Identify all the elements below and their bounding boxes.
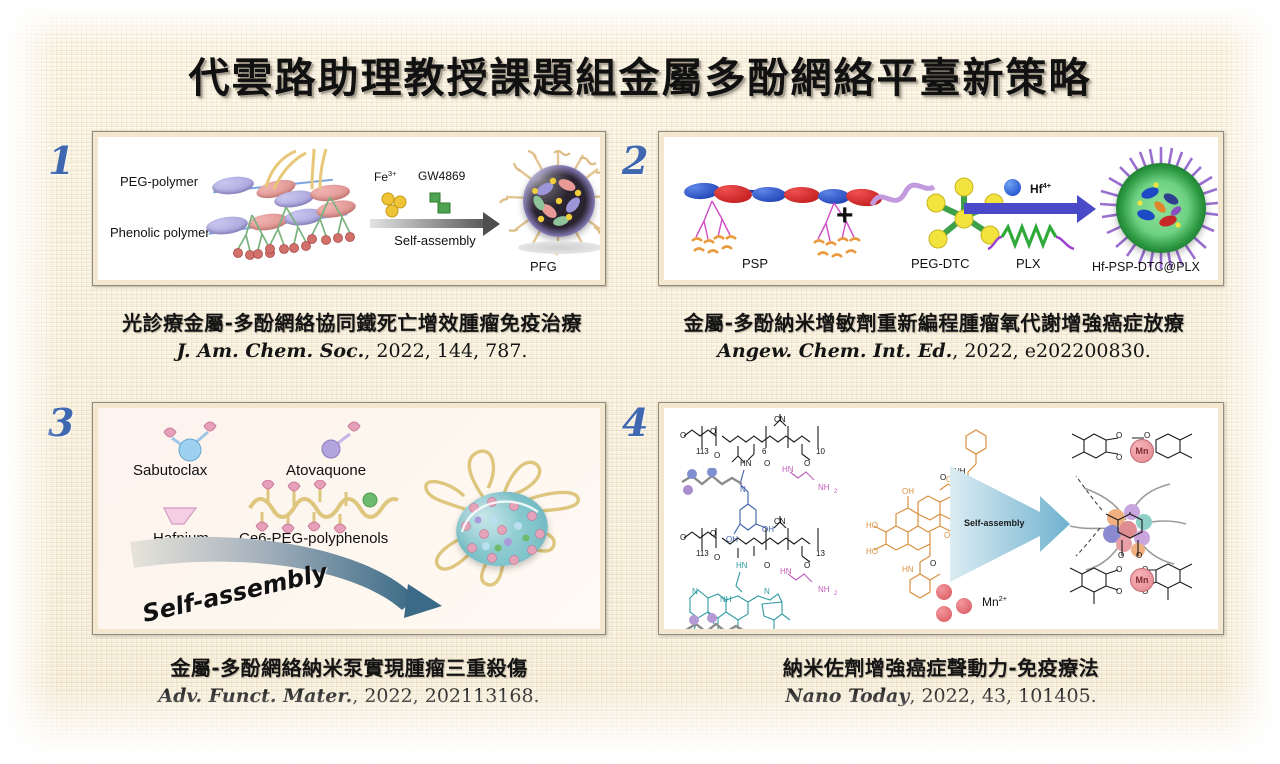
svg-text:CN: CN <box>774 517 786 526</box>
svg-text:O: O <box>804 459 810 468</box>
label-pfg: PFG <box>530 259 557 274</box>
poster-background <box>0 0 1280 764</box>
scheme-panel-4: 113 6 10 CN O O O HN O HN O NH 2 <box>658 402 1224 635</box>
hf-ion-icon <box>1004 179 1021 196</box>
svg-text:O: O <box>764 561 770 570</box>
svg-text:2: 2 <box>834 489 838 495</box>
peg-tail-art <box>256 145 336 195</box>
label-atovaquone: Atovaquone <box>286 462 366 479</box>
nanoparticle-payload-2 <box>1116 163 1206 253</box>
scheme-panel-1: PEG-polymer Phenolic polymer <box>92 131 606 286</box>
caption-title-1: 光診療金屬-多酚網絡協同鐵死亡增效腫瘤免疫治療 <box>72 307 632 336</box>
svg-text:O: O <box>764 459 770 468</box>
label-hf-ion: Hf4+ <box>1030 181 1051 196</box>
svg-text:HN: HN <box>740 459 752 468</box>
scheme-canvas-3: Sabutoclax Atovaquone Hafnium <box>98 408 600 629</box>
svg-text:6: 6 <box>762 447 767 456</box>
svg-text:O: O <box>1136 551 1142 560</box>
mn-ion-dot-3 <box>936 606 952 622</box>
citation-4: , 2022, 43, 101405. <box>909 685 1096 707</box>
nanoparticle-payload-3 <box>448 486 558 578</box>
page-title: 代雲路助理教授課題組金屬多酚網絡平臺新策略 <box>0 44 1280 104</box>
citation-3: , 2022, 202113168. <box>352 685 539 707</box>
caption-reference-3: Adv. Funct. Mater., 2022, 202113168. <box>92 685 606 707</box>
label-peg-polymer: PEG-polymer <box>120 174 198 189</box>
mn-ion-dot-2 <box>956 598 972 614</box>
svg-text:13: 13 <box>816 549 825 558</box>
psp-branch-art <box>682 199 892 279</box>
caption-4: 納米佐劑增強癌症聲動力-免疫療法 Nano Today, 2022, 43, 1… <box>658 652 1224 707</box>
citation-2: , 2022, e202200830. <box>952 340 1151 362</box>
journal-name-2: Angew. Chem. Int. Ed. <box>717 340 952 362</box>
svg-text:O: O <box>1116 431 1122 440</box>
svg-text:O: O <box>1118 551 1124 560</box>
label-psp: PSP <box>742 256 768 271</box>
svg-text:113: 113 <box>696 447 709 456</box>
svg-text:113: 113 <box>696 549 709 558</box>
caption-reference-4: Nano Today, 2022, 43, 101405. <box>658 685 1224 707</box>
svg-text:10: 10 <box>816 447 825 456</box>
caption-2: 金屬-多酚納米增敏劑重新編程腫瘤氧代謝增強癌症放療 Angew. Chem. I… <box>636 307 1232 362</box>
legend-chain-top <box>678 468 758 500</box>
caption-title-3: 金屬-多酚網絡納米泵實現腫瘤三重殺傷 <box>92 652 606 681</box>
svg-text:O: O <box>1116 587 1122 596</box>
svg-text:O: O <box>680 431 686 440</box>
caption-reference-1: J. Am. Chem. Soc., 2022, 144, 787. <box>72 340 632 362</box>
mn-center-lower: Mn <box>1130 568 1154 592</box>
caption-1: 光診療金屬-多酚網絡協同鐵死亡增效腫瘤免疫治療 J. Am. Chem. Soc… <box>72 307 632 362</box>
label-plx: PLX <box>1016 256 1041 271</box>
svg-text:O: O <box>680 533 686 542</box>
label-self-assembly-4: Self-assembly <box>964 518 1025 528</box>
citation-1: , 2022, 144, 787. <box>364 340 527 362</box>
plx-art <box>986 219 1086 259</box>
caption-title-2: 金屬-多酚納米增敏劑重新編程腫瘤氧代謝增強癌症放療 <box>636 307 1232 336</box>
svg-text:N: N <box>764 587 770 596</box>
scheme-panel-3: Sabutoclax Atovaquone Hafnium <box>92 402 606 635</box>
caption-3: 金屬-多酚網絡納米泵實現腫瘤三重殺傷 Adv. Funct. Mater., 2… <box>92 652 606 707</box>
scheme-canvas-1: PEG-polymer Phenolic polymer <box>98 137 600 280</box>
svg-text:O: O <box>1116 565 1122 574</box>
nanoparticle-payload-1 <box>523 165 595 237</box>
label-peg-dtc: PEG-DTC <box>911 256 970 271</box>
scheme-panel-2: PSP + <box>658 131 1224 286</box>
svg-text:HO: HO <box>866 547 878 556</box>
svg-text:O: O <box>710 427 716 436</box>
svg-text:CN: CN <box>774 415 786 424</box>
entry-number-1: 1 <box>48 138 74 183</box>
gw4869-icon <box>424 189 460 221</box>
svg-text:NH: NH <box>818 483 830 492</box>
svg-text:NH: NH <box>818 585 830 594</box>
caption-title-4: 納米佐劑增強癌症聲動力-免疫療法 <box>658 652 1224 681</box>
reaction-arrow-2 <box>964 203 1079 214</box>
svg-text:O: O <box>714 451 720 460</box>
label-sabutoclax: Sabutoclax <box>133 462 207 479</box>
label-mn-ion: Mn2+ <box>982 594 1007 609</box>
nanoparticle-shadow-1 <box>518 241 600 254</box>
label-phenolic-polymer: Phenolic polymer <box>110 225 210 240</box>
svg-text:HN: HN <box>736 561 748 570</box>
scheme-canvas-4: 113 6 10 CN O O O HN O HN O NH 2 <box>664 408 1218 629</box>
svg-text:HN: HN <box>782 465 794 474</box>
svg-text:HN: HN <box>902 565 914 574</box>
journal-name-3: Adv. Funct. Mater. <box>158 685 352 707</box>
fe-ion-icon <box>376 189 416 223</box>
entry-number-3: 3 <box>48 400 74 445</box>
label-hf-psp-dtc-plx: Hf-PSP-DTC@PLX <box>1092 260 1200 274</box>
atovaquone-icon <box>310 420 376 464</box>
label-gw4869: GW4869 <box>418 169 465 183</box>
legend-chain-bottom <box>682 612 762 629</box>
mn-center-upper: Mn <box>1130 439 1154 463</box>
svg-text:O: O <box>710 529 716 538</box>
svg-text:O: O <box>930 559 936 568</box>
svg-text:HO: HO <box>866 521 878 530</box>
label-fe-ion: Fe3+ <box>374 169 397 184</box>
reaction-arrow-1 <box>370 219 485 228</box>
svg-text:N: N <box>692 587 698 596</box>
caption-reference-2: Angew. Chem. Int. Ed., 2022, e202200830. <box>636 340 1232 362</box>
scheme-canvas-2: PSP + <box>664 137 1218 280</box>
entry-number-2: 2 <box>622 138 648 183</box>
svg-text:O: O <box>714 553 720 562</box>
label-self-assembly-1: Self-assembly <box>370 233 500 248</box>
svg-text:2: 2 <box>834 591 838 597</box>
journal-name-1: J. Am. Chem. Soc. <box>177 340 365 362</box>
svg-text:O: O <box>804 561 810 570</box>
svg-text:NH: NH <box>720 595 732 604</box>
journal-name-4: Nano Today <box>785 685 909 707</box>
svg-text:O: O <box>1116 453 1122 462</box>
svg-text:HN: HN <box>780 567 792 576</box>
svg-text:OH: OH <box>902 487 914 496</box>
label-plus: + <box>836 199 854 233</box>
sabutoclax-icon <box>150 420 230 466</box>
entry-number-4: 4 <box>622 400 648 445</box>
